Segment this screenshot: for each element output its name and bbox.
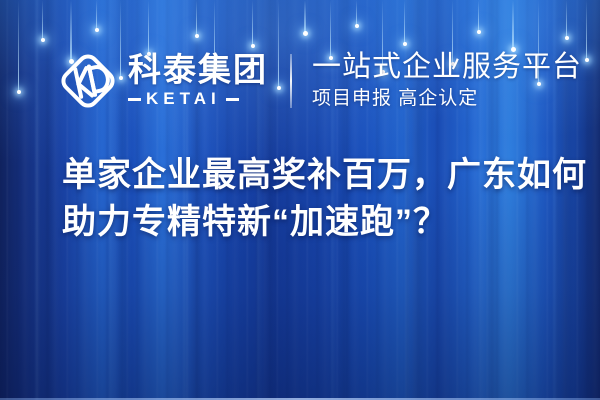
company-name-en: KETAI bbox=[146, 89, 221, 109]
brand-header: 科泰集团 KETAI 一站式企业服务平台 项目申报 高企认定 bbox=[58, 45, 582, 117]
tagline-block: 一站式企业服务平台 项目申报 高企认定 bbox=[312, 51, 582, 111]
wordmark-rule-right bbox=[226, 98, 239, 101]
header-divider bbox=[290, 54, 292, 108]
brand-wordmark: 科泰集团 KETAI bbox=[128, 53, 268, 110]
tagline-sub: 项目申报 高企认定 bbox=[312, 88, 582, 111]
ketai-diamond-logo-icon bbox=[58, 51, 118, 111]
tagline-main: 一站式企业服务平台 bbox=[312, 51, 582, 84]
headline-block: 单家企业最高奖补百万，广东如何 助力专精特新“加速跑”？ bbox=[62, 152, 562, 246]
headline-line-1: 单家企业最高奖补百万，广东如何 bbox=[62, 152, 562, 199]
company-name-en-row: KETAI bbox=[128, 89, 268, 109]
wordmark-rule-left bbox=[128, 98, 141, 101]
company-name-cn: 科泰集团 bbox=[128, 53, 268, 88]
headline-line-2: 助力专精特新“加速跑”？ bbox=[62, 199, 562, 246]
promo-banner: 科泰集团 KETAI 一站式企业服务平台 项目申报 高企认定 单家企业最高奖补百… bbox=[0, 0, 600, 400]
